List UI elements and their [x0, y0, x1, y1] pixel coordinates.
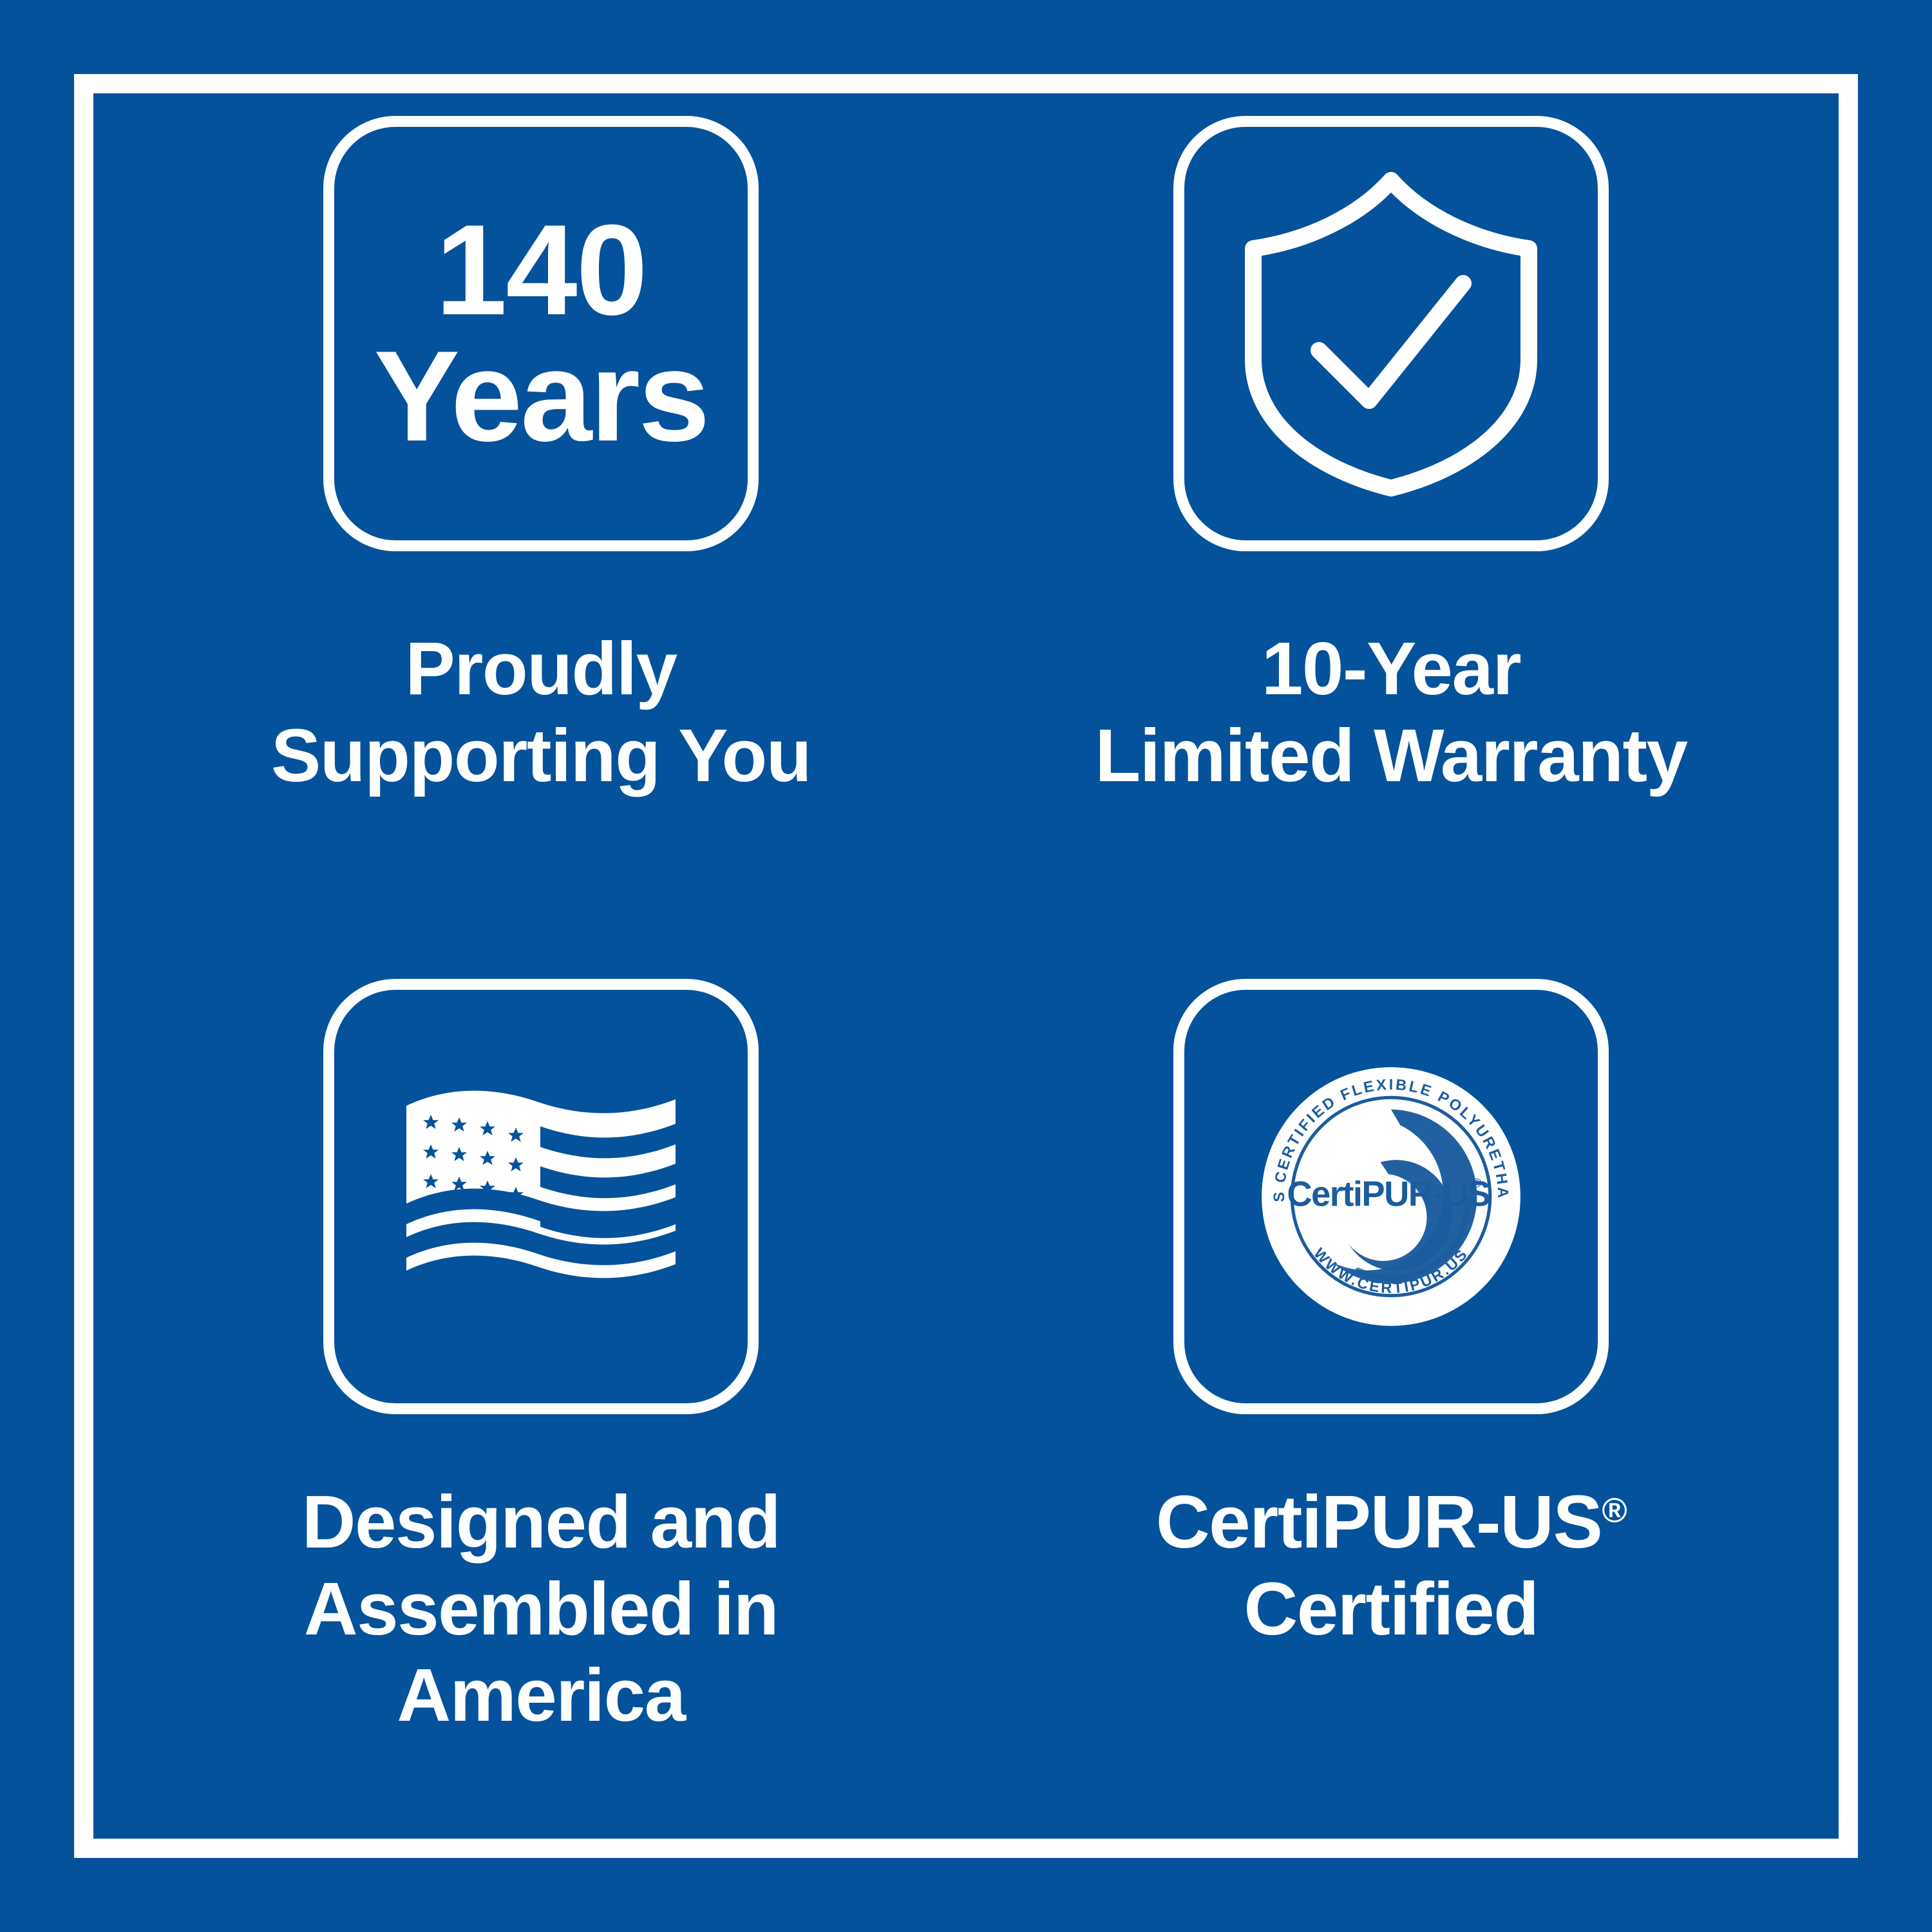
caption-text: CertiPUR-US [1156, 1480, 1602, 1564]
caption-line: Supporting You [116, 712, 966, 799]
seal-wordmark: CertiPUR-US [1287, 1174, 1490, 1213]
years-tile: 140 Years [323, 116, 759, 551]
badge-grid: 140 Years Proudly Supporting You [116, 116, 1816, 1816]
140-years-text-icon: 140 Years [374, 207, 708, 460]
years-caption: Proudly Supporting You [116, 625, 966, 799]
certipur-us-seal-icon: CONTAINS CERTIFIED FLEXIBLE POLYURETHANE… [1259, 1065, 1523, 1329]
years-unit: Years [374, 334, 708, 460]
warranty-caption: 10-Year Limited Warranty [966, 625, 1816, 799]
caption-line: 10-Year [966, 625, 1816, 712]
badge-made-in-america: Designed and Assembled in America [116, 979, 966, 1816]
caption-line: Limited Warranty [966, 712, 1816, 799]
badge-certipur: CONTAINS CERTIFIED FLEXIBLE POLYURETHANE… [966, 979, 1816, 1816]
caption-line: Proudly [116, 625, 966, 712]
warranty-tile [1173, 116, 1609, 551]
usa-flag-icon [402, 1077, 679, 1316]
seal-registered-mark: ® [1472, 1177, 1482, 1191]
caption-line: Assembled in [116, 1566, 966, 1653]
certipur-tile: CONTAINS CERTIFIED FLEXIBLE POLYURETHANE… [1173, 979, 1609, 1414]
america-tile [323, 979, 759, 1414]
badge-years: 140 Years Proudly Supporting You [116, 116, 966, 979]
caption-line: America [116, 1652, 966, 1739]
years-number: 140 [374, 207, 708, 334]
caption-line: Designed and [116, 1479, 966, 1566]
shield-check-icon [1236, 166, 1546, 501]
america-caption: Designed and Assembled in America [116, 1479, 966, 1739]
caption-line: Certified [966, 1566, 1816, 1653]
certipur-caption: CertiPUR-US® Certified [966, 1479, 1816, 1652]
registered-mark: ® [1602, 1492, 1626, 1529]
caption-line: CertiPUR-US® [966, 1479, 1816, 1566]
badge-warranty: 10-Year Limited Warranty [966, 116, 1816, 979]
marketing-badge-graphic: 140 Years Proudly Supporting You [0, 0, 1932, 1932]
